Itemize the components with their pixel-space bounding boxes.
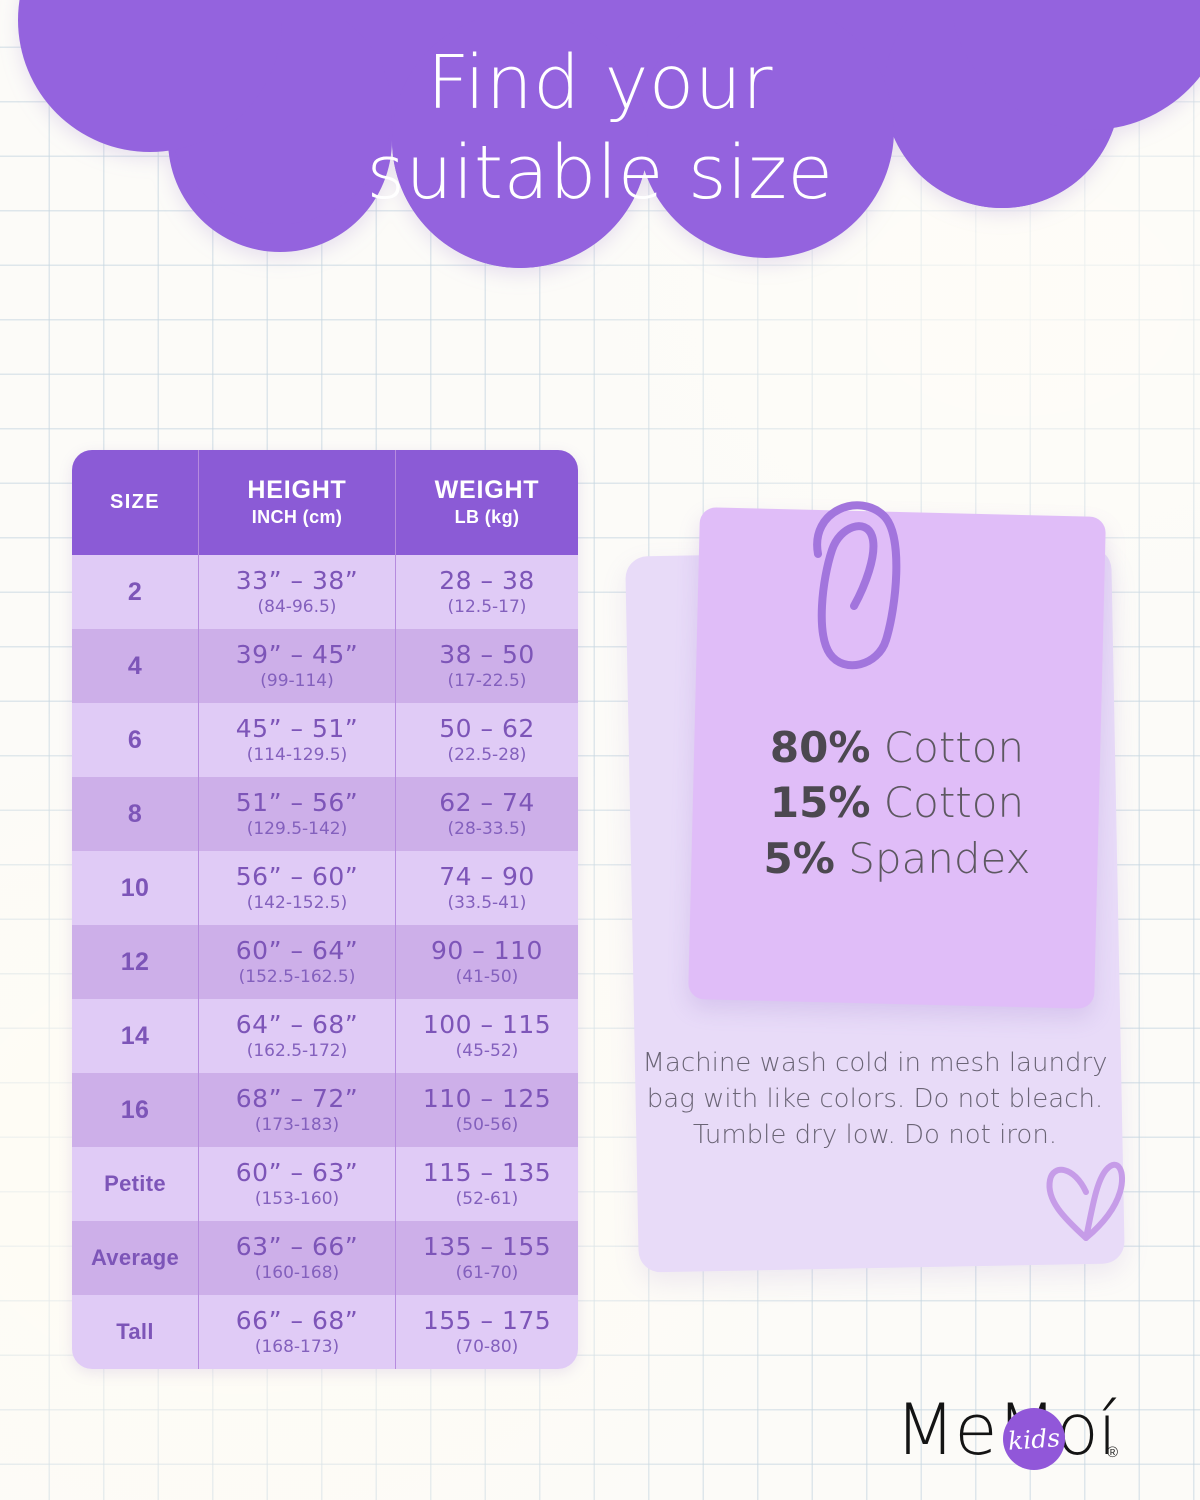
height-cm: (168-173) bbox=[255, 1337, 339, 1357]
cell-size: Tall bbox=[72, 1295, 198, 1369]
kids-badge-label: kids bbox=[1007, 1423, 1061, 1456]
fabric-percent: 15% bbox=[770, 778, 871, 827]
height-cm: (84-96.5) bbox=[258, 597, 337, 617]
height-inches: 63” – 66” bbox=[236, 1233, 358, 1262]
brand-logo: MeMoí kids ® bbox=[895, 1382, 1135, 1478]
weight-kg: (52-61) bbox=[456, 1189, 519, 1209]
height-inches: 56” – 60” bbox=[236, 863, 358, 892]
weight-kg: (28-33.5) bbox=[448, 819, 527, 839]
weight-lb: 135 – 155 bbox=[423, 1233, 551, 1262]
weight-kg: (12.5-17) bbox=[448, 597, 527, 617]
fabric-row: 5% Spandex bbox=[694, 831, 1100, 886]
height-cm: (114-129.5) bbox=[247, 745, 348, 765]
height-inches: 33” – 38” bbox=[236, 567, 358, 596]
table-row: 851” – 56”(129.5-142)62 – 74(28-33.5) bbox=[72, 777, 578, 851]
height-cm: (142-152.5) bbox=[247, 893, 348, 913]
cell-weight: 115 – 135(52-61) bbox=[395, 1147, 578, 1221]
cell-weight: 62 – 74(28-33.5) bbox=[395, 777, 578, 851]
fabric-composition-list: 80% Cotton15% Cotton5% Spandex bbox=[694, 720, 1100, 886]
weight-lb: 110 – 125 bbox=[423, 1085, 551, 1114]
cell-height: 68” – 72”(173-183) bbox=[198, 1073, 395, 1147]
weight-kg: (22.5-28) bbox=[448, 745, 527, 765]
kids-badge: kids bbox=[1003, 1408, 1065, 1470]
cell-size: Average bbox=[72, 1221, 198, 1295]
height-cm: (162.5-172) bbox=[247, 1041, 348, 1061]
weight-lb: 38 – 50 bbox=[439, 641, 535, 670]
height-inches: 60” – 63” bbox=[236, 1159, 358, 1188]
cell-size: 16 bbox=[72, 1073, 198, 1147]
cell-size: 10 bbox=[72, 851, 198, 925]
page-title: Find your suitable size bbox=[0, 38, 1200, 219]
weight-kg: (33.5-41) bbox=[448, 893, 527, 913]
cell-size: 12 bbox=[72, 925, 198, 999]
fabric-percent: 80% bbox=[770, 723, 871, 772]
table-row: 645” – 51”(114-129.5)50 – 62(22.5-28) bbox=[72, 703, 578, 777]
cell-weight: 38 – 50(17-22.5) bbox=[395, 629, 578, 703]
height-cm: (129.5-142) bbox=[247, 819, 348, 839]
fabric-material: Cotton bbox=[884, 778, 1024, 827]
weight-lb: 155 – 175 bbox=[423, 1307, 551, 1336]
weight-kg: (50-56) bbox=[456, 1115, 519, 1135]
height-inches: 51” – 56” bbox=[236, 789, 358, 818]
cell-weight: 28 – 38(12.5-17) bbox=[395, 555, 578, 629]
cell-weight: 110 – 125(50-56) bbox=[395, 1073, 578, 1147]
size-value: 6 bbox=[128, 726, 142, 755]
table-row: 1668” – 72”(173-183)110 – 125(50-56) bbox=[72, 1073, 578, 1147]
cell-height: 51” – 56”(129.5-142) bbox=[198, 777, 395, 851]
height-cm: (99-114) bbox=[260, 671, 333, 691]
weight-kg: (17-22.5) bbox=[448, 671, 527, 691]
table-row: Average63” – 66”(160-168)135 – 155(61-70… bbox=[72, 1221, 578, 1295]
cell-weight: 74 – 90(33.5-41) bbox=[395, 851, 578, 925]
fabric-material: Spandex bbox=[848, 834, 1030, 883]
height-inches: 60” – 64” bbox=[236, 937, 358, 966]
height-inches: 45” – 51” bbox=[236, 715, 358, 744]
table-row: Petite60” – 63”(153-160)115 – 135(52-61) bbox=[72, 1147, 578, 1221]
column-header-weight: WEIGHT LB (kg) bbox=[395, 450, 578, 555]
registered-mark: ® bbox=[1107, 1444, 1118, 1461]
cell-weight: 155 – 175(70-80) bbox=[395, 1295, 578, 1369]
weight-lb: 50 – 62 bbox=[439, 715, 535, 744]
table-header-row: SIZE HEIGHT INCH (cm) WEIGHT LB (kg) bbox=[72, 450, 578, 555]
size-value: 14 bbox=[121, 1022, 149, 1051]
cell-size: Petite bbox=[72, 1147, 198, 1221]
table-row: Tall66” – 68”(168-173)155 – 175(70-80) bbox=[72, 1295, 578, 1369]
weight-lb: 90 – 110 bbox=[431, 937, 543, 966]
cell-weight: 50 – 62(22.5-28) bbox=[395, 703, 578, 777]
cell-height: 63” – 66”(160-168) bbox=[198, 1221, 395, 1295]
heart-doodle-icon bbox=[1040, 1152, 1128, 1248]
care-instructions-text: Machine wash cold in mesh laundry bag wi… bbox=[640, 1046, 1110, 1154]
size-value: 12 bbox=[121, 948, 149, 977]
weight-kg: (61-70) bbox=[456, 1263, 519, 1283]
cell-weight: 90 – 110(41-50) bbox=[395, 925, 578, 999]
cell-height: 39” – 45”(99-114) bbox=[198, 629, 395, 703]
table-row: 1464” – 68”(162.5-172)100 – 115(45-52) bbox=[72, 999, 578, 1073]
page-title-line-1: Find your bbox=[0, 38, 1200, 128]
size-value: Petite bbox=[104, 1171, 166, 1197]
weight-kg: (70-80) bbox=[456, 1337, 519, 1357]
cell-height: 33” – 38”(84-96.5) bbox=[198, 555, 395, 629]
size-value: Average bbox=[91, 1245, 179, 1271]
cell-size: 8 bbox=[72, 777, 198, 851]
column-header-height: HEIGHT INCH (cm) bbox=[198, 450, 395, 555]
table-row: 1260” – 64”(152.5-162.5)90 – 110(41-50) bbox=[72, 925, 578, 999]
cell-size: 14 bbox=[72, 999, 198, 1073]
size-value: 8 bbox=[128, 800, 142, 829]
weight-lb: 115 – 135 bbox=[423, 1159, 551, 1188]
cell-size: 6 bbox=[72, 703, 198, 777]
table-row: 1056” – 60”(142-152.5)74 – 90(33.5-41) bbox=[72, 851, 578, 925]
cell-height: 60” – 64”(152.5-162.5) bbox=[198, 925, 395, 999]
fabric-material: Cotton bbox=[884, 723, 1024, 772]
column-header-size: SIZE bbox=[72, 450, 198, 555]
fabric-row: 80% Cotton bbox=[694, 720, 1100, 775]
cell-height: 66” – 68”(168-173) bbox=[198, 1295, 395, 1369]
cell-height: 56” – 60”(142-152.5) bbox=[198, 851, 395, 925]
table-row: 439” – 45”(99-114)38 – 50(17-22.5) bbox=[72, 629, 578, 703]
cell-weight: 100 – 115(45-52) bbox=[395, 999, 578, 1073]
fabric-percent: 5% bbox=[764, 834, 835, 883]
cell-height: 45” – 51”(114-129.5) bbox=[198, 703, 395, 777]
height-cm: (173-183) bbox=[255, 1115, 339, 1135]
weight-lb: 28 – 38 bbox=[439, 567, 535, 596]
size-chart-table: SIZE HEIGHT INCH (cm) WEIGHT LB (kg) 233… bbox=[72, 450, 578, 1369]
size-value: 16 bbox=[121, 1096, 149, 1125]
page-title-line-2: suitable size bbox=[0, 128, 1200, 218]
height-inches: 64” – 68” bbox=[236, 1011, 358, 1040]
weight-kg: (41-50) bbox=[456, 967, 519, 987]
weight-lb: 100 – 115 bbox=[423, 1011, 551, 1040]
table-row: 233” – 38”(84-96.5)28 – 38(12.5-17) bbox=[72, 555, 578, 629]
size-value: 10 bbox=[121, 874, 149, 903]
table-body: 233” – 38”(84-96.5)28 – 38(12.5-17)439” … bbox=[72, 555, 578, 1369]
size-value: 2 bbox=[128, 578, 142, 607]
size-value: 4 bbox=[128, 652, 142, 681]
cell-height: 60” – 63”(153-160) bbox=[198, 1147, 395, 1221]
weight-kg: (45-52) bbox=[456, 1041, 519, 1061]
weight-lb: 62 – 74 bbox=[439, 789, 535, 818]
height-inches: 66” – 68” bbox=[236, 1307, 358, 1336]
height-cm: (153-160) bbox=[255, 1189, 339, 1209]
weight-lb: 74 – 90 bbox=[439, 863, 535, 892]
paperclip-icon bbox=[800, 488, 910, 678]
height-inches: 68” – 72” bbox=[236, 1085, 358, 1114]
height-cm: (152.5-162.5) bbox=[239, 967, 356, 987]
fabric-row: 15% Cotton bbox=[694, 775, 1100, 830]
cell-size: 2 bbox=[72, 555, 198, 629]
size-value: Tall bbox=[116, 1319, 153, 1345]
cell-weight: 135 – 155(61-70) bbox=[395, 1221, 578, 1295]
cell-size: 4 bbox=[72, 629, 198, 703]
cell-height: 64” – 68”(162.5-172) bbox=[198, 999, 395, 1073]
height-inches: 39” – 45” bbox=[236, 641, 358, 670]
height-cm: (160-168) bbox=[255, 1263, 339, 1283]
